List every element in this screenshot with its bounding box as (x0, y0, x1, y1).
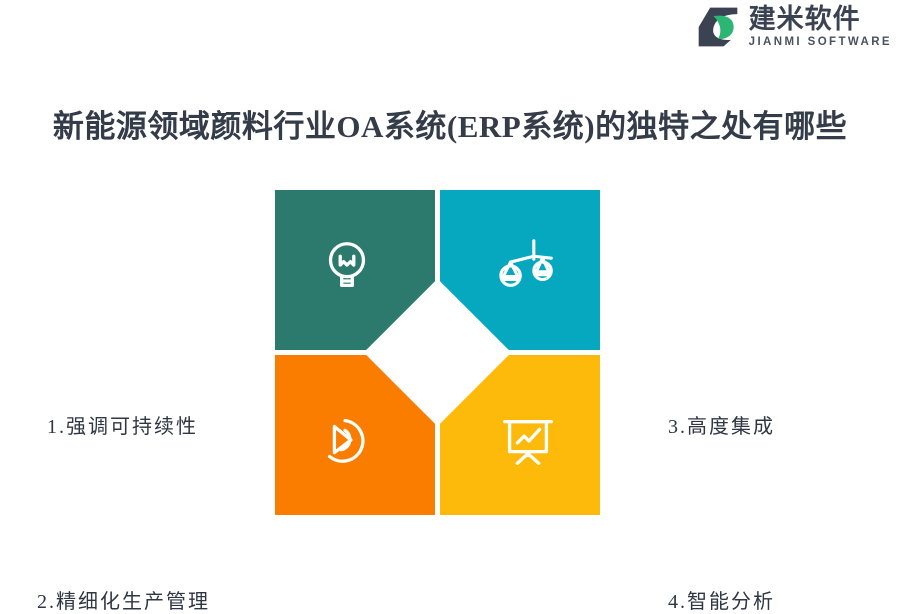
presentation-chart-icon (497, 410, 559, 472)
quadrant-diagram: 1.强调可持续性 2.精细化生产管理 3.高度集成 4.智能分析 (0, 160, 900, 560)
brand-name-en: JIANMI SOFTWARE (749, 37, 892, 49)
tile-smart-analysis[interactable] (440, 355, 600, 515)
pie-chart-arrow-icon (316, 410, 378, 472)
balance-scale-icon (497, 233, 559, 295)
lightbulb-icon (316, 235, 378, 297)
page-title: 新能源领域颜料行业OA系统(ERP系统)的独特之处有哪些 (0, 101, 900, 146)
jianmi-leaf-logo-icon (695, 4, 741, 50)
brand-name-cn: 建米软件 (749, 6, 892, 33)
label-sustainability: 1.强调可持续性 (47, 410, 198, 439)
tile-high-integration[interactable] (440, 190, 600, 350)
label-high-integration: 3.高度集成 (668, 410, 775, 439)
tile-sustainability[interactable] (275, 190, 435, 350)
brand-text: 建米软件 JIANMI SOFTWARE (749, 6, 892, 49)
brand-logo: 建米软件 JIANMI SOFTWARE (695, 4, 892, 50)
tile-refined-production[interactable] (275, 355, 435, 515)
